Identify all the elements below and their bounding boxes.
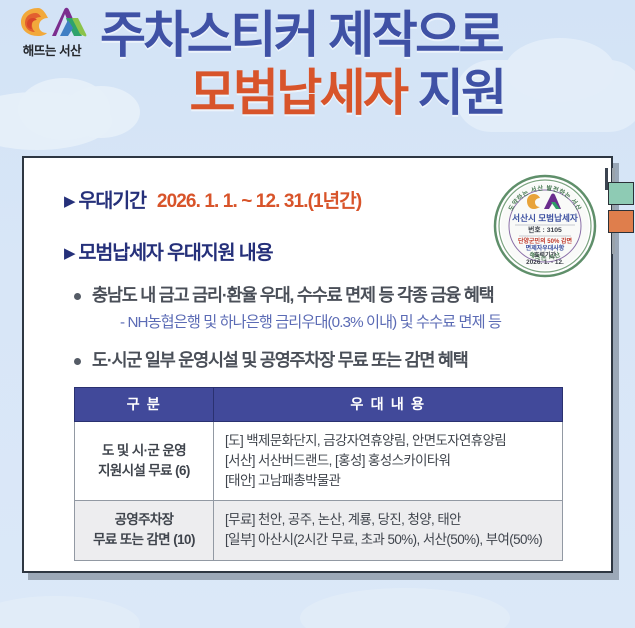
table-cell-content: [무료] 천안, 공주, 논산, 계룡, 당진, 청양, 태안 [일부] 아산시… <box>214 501 563 560</box>
seosan-city-logo: 해뜨는 서산 <box>6 4 98 62</box>
section-heading-label: 모범납세자 우대지원 내용 <box>79 236 273 265</box>
title-line-2: 모범납세자 지원 <box>96 64 626 122</box>
logo-text: 해뜨는 서산 <box>6 40 98 59</box>
benefit-table: 구 분 우 대 내 용 도 및 시·군 운영 지원시설 무료 (6) [도] 백… <box>74 387 563 561</box>
svg-text:2026. 1. - 12.: 2026. 1. - 12. <box>526 259 564 266</box>
cloud-decoration <box>0 596 140 628</box>
svg-text:면제자우대사항: 면제자우대사항 <box>526 244 565 252</box>
title-block: 주차스티커 제작으로 모범납세자 지원 <box>96 6 626 122</box>
table-header-content: 우 대 내 용 <box>214 387 563 421</box>
bullet-dot-icon <box>74 358 81 365</box>
bullet-text: 충남도 내 금고 금리·환율 우대, 수수료 면제 등 각종 금융 혜택 <box>92 284 494 307</box>
table-header-row: 구 분 우 대 내 용 <box>75 387 563 421</box>
title-highlight: 모범납세자 <box>189 65 406 121</box>
content-card: 도약하는 서산 발전하는 서산 해뜨는 서산 서산시 모범납세자 번호 : 31… <box>22 156 613 573</box>
table-row: 공영주차장 무료 또는 감면 (10) [무료] 천안, 공주, 논산, 계룡,… <box>75 501 563 560</box>
table-body: 도 및 시·군 운영 지원시설 무료 (6) [도] 백제문화단지, 금강자연휴… <box>75 421 563 560</box>
svg-text:효력기간: 효력기간 <box>534 251 557 259</box>
taxpayer-seal-icon: 도약하는 서산 발전하는 서산 해뜨는 서산 서산시 모범납세자 번호 : 31… <box>493 174 597 278</box>
benefit-table-wrapper: 구 분 우 대 내 용 도 및 시·군 운영 지원시설 무료 (6) [도] 백… <box>74 387 563 561</box>
seosan-sunrise-logo-icon <box>16 4 90 40</box>
page-header: 해뜨는 서산 주차스티커 제작으로 모범납세자 지원 <box>0 0 635 150</box>
triangle-marker-icon: ▶ <box>64 194 76 209</box>
list-item: 도·시군 일부 운영시설 및 공영주차장 무료 또는 감면 혜택 <box>74 349 591 372</box>
list-item: 충남도 내 금고 금리·환율 우대, 수수료 면제 등 각종 금융 혜택 <box>74 284 591 307</box>
title-rest: 지원 <box>418 65 505 121</box>
decoration-square-green <box>608 182 634 205</box>
table-header-gubun: 구 분 <box>75 387 214 421</box>
period-value: 2026. 1. 1. ~ 12. 31.(1년간) <box>157 186 361 213</box>
table-cell-content: [도] 백제문화단지, 금강자연휴양림, 안면도자연휴양림 [서산] 서산버드랜… <box>214 421 563 500</box>
cloud-decoration <box>300 588 510 628</box>
bullet-dot-icon <box>74 293 81 300</box>
table-cell-label: 도 및 시·군 운영 지원시설 무료 (6) <box>75 421 214 500</box>
table-head: 구 분 우 대 내 용 <box>75 387 563 421</box>
benefit-bullet-list: 충남도 내 금고 금리·환율 우대, 수수료 면제 등 각종 금융 혜택 - N… <box>46 284 591 373</box>
svg-text:번호 : 3105: 번호 : 3105 <box>528 225 562 234</box>
table-row: 도 및 시·군 운영 지원시설 무료 (6) [도] 백제문화단지, 금강자연휴… <box>75 421 563 500</box>
period-label: 우대기간 <box>79 184 146 213</box>
svg-text:서산시 모범납세자: 서산시 모범납세자 <box>512 212 578 223</box>
svg-text:단양군민의 50% 감면: 단양군민의 50% 감면 <box>518 237 572 245</box>
triangle-marker-icon: ▶ <box>64 246 76 261</box>
bullet-subnote: - NH농협은행 및 하나은행 금리우대(0.3% 이내) 및 수수료 면제 등 <box>120 310 591 332</box>
decoration-square-orange <box>608 210 634 233</box>
title-line-1: 주차스티커 제작으로 <box>96 6 626 64</box>
bullet-text: 도·시군 일부 운영시설 및 공영주차장 무료 또는 감면 혜택 <box>92 349 468 372</box>
table-cell-label: 공영주차장 무료 또는 감면 (10) <box>75 501 214 560</box>
